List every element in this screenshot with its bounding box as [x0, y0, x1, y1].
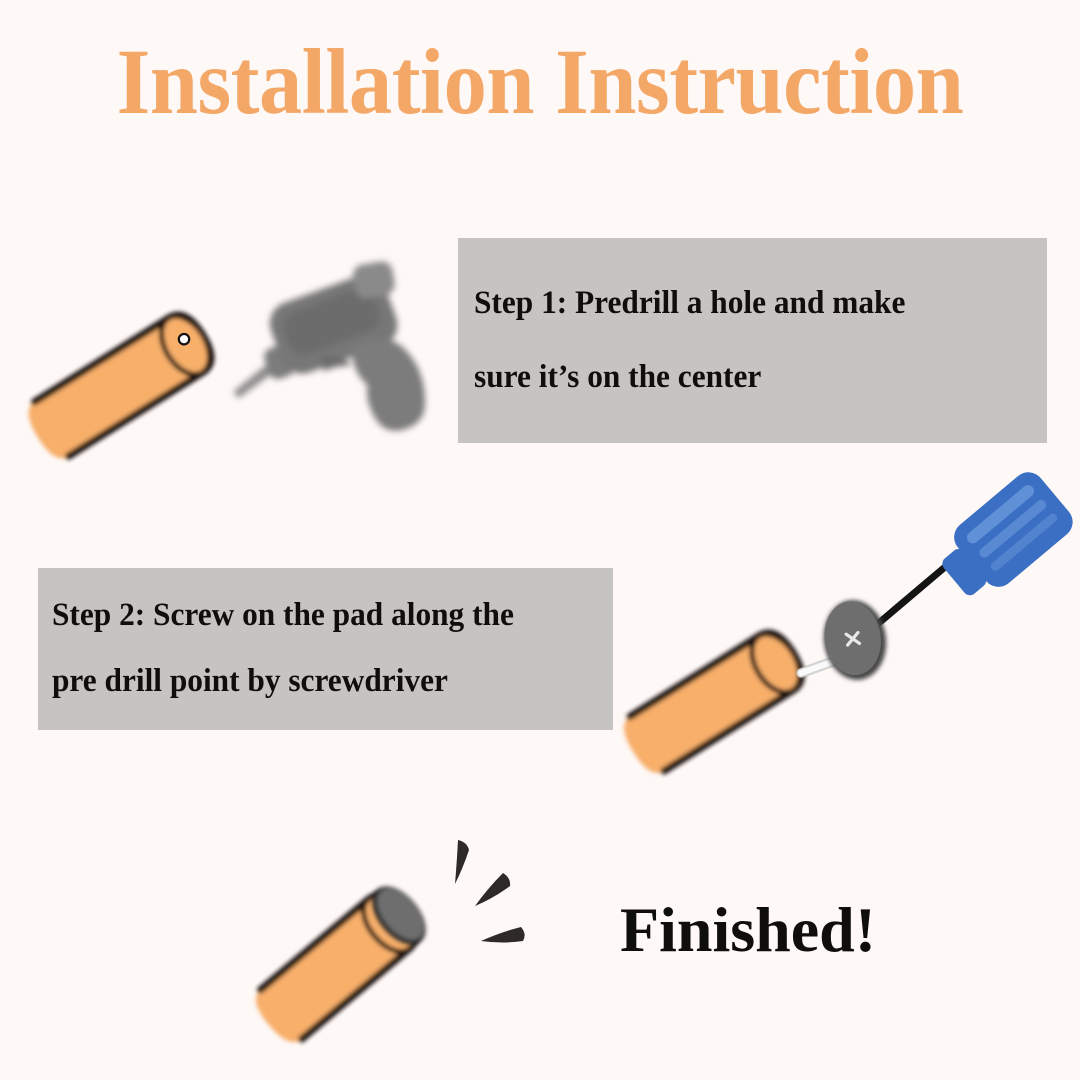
pad-disc: [819, 596, 892, 684]
finished-label: Finished!: [620, 898, 876, 962]
shine-mark-1: [455, 840, 469, 884]
step-2-line-2: pre drill point by screwdriver: [52, 665, 585, 699]
page-title: Installation Instruction: [38, 34, 1042, 132]
step-1-caption-box: Step 1: Predrill a hole and make sure it…: [458, 238, 1047, 443]
step-1-illustration: [18, 225, 448, 475]
shine-mark-3: [481, 927, 525, 943]
tube: [21, 308, 219, 465]
step-1-line-2: sure it’s on the center: [474, 361, 1018, 395]
tube: [247, 877, 436, 1051]
step-1-line-1: Step 1: Predrill a hole and make: [474, 287, 1018, 321]
step-2-caption-box: Step 2: Screw on the pad along the pre d…: [38, 568, 613, 730]
screwdriver-handle: [929, 466, 1079, 609]
shine-mark-2: [475, 873, 510, 906]
result-illustration: [245, 815, 575, 1045]
step-2-line-1: Step 2: Screw on the pad along the: [52, 599, 585, 633]
power-drill: [207, 253, 447, 480]
step-2-illustration: [615, 495, 1075, 785]
tube: [616, 625, 809, 779]
instruction-poster: Installation Instruction: [0, 0, 1080, 1080]
